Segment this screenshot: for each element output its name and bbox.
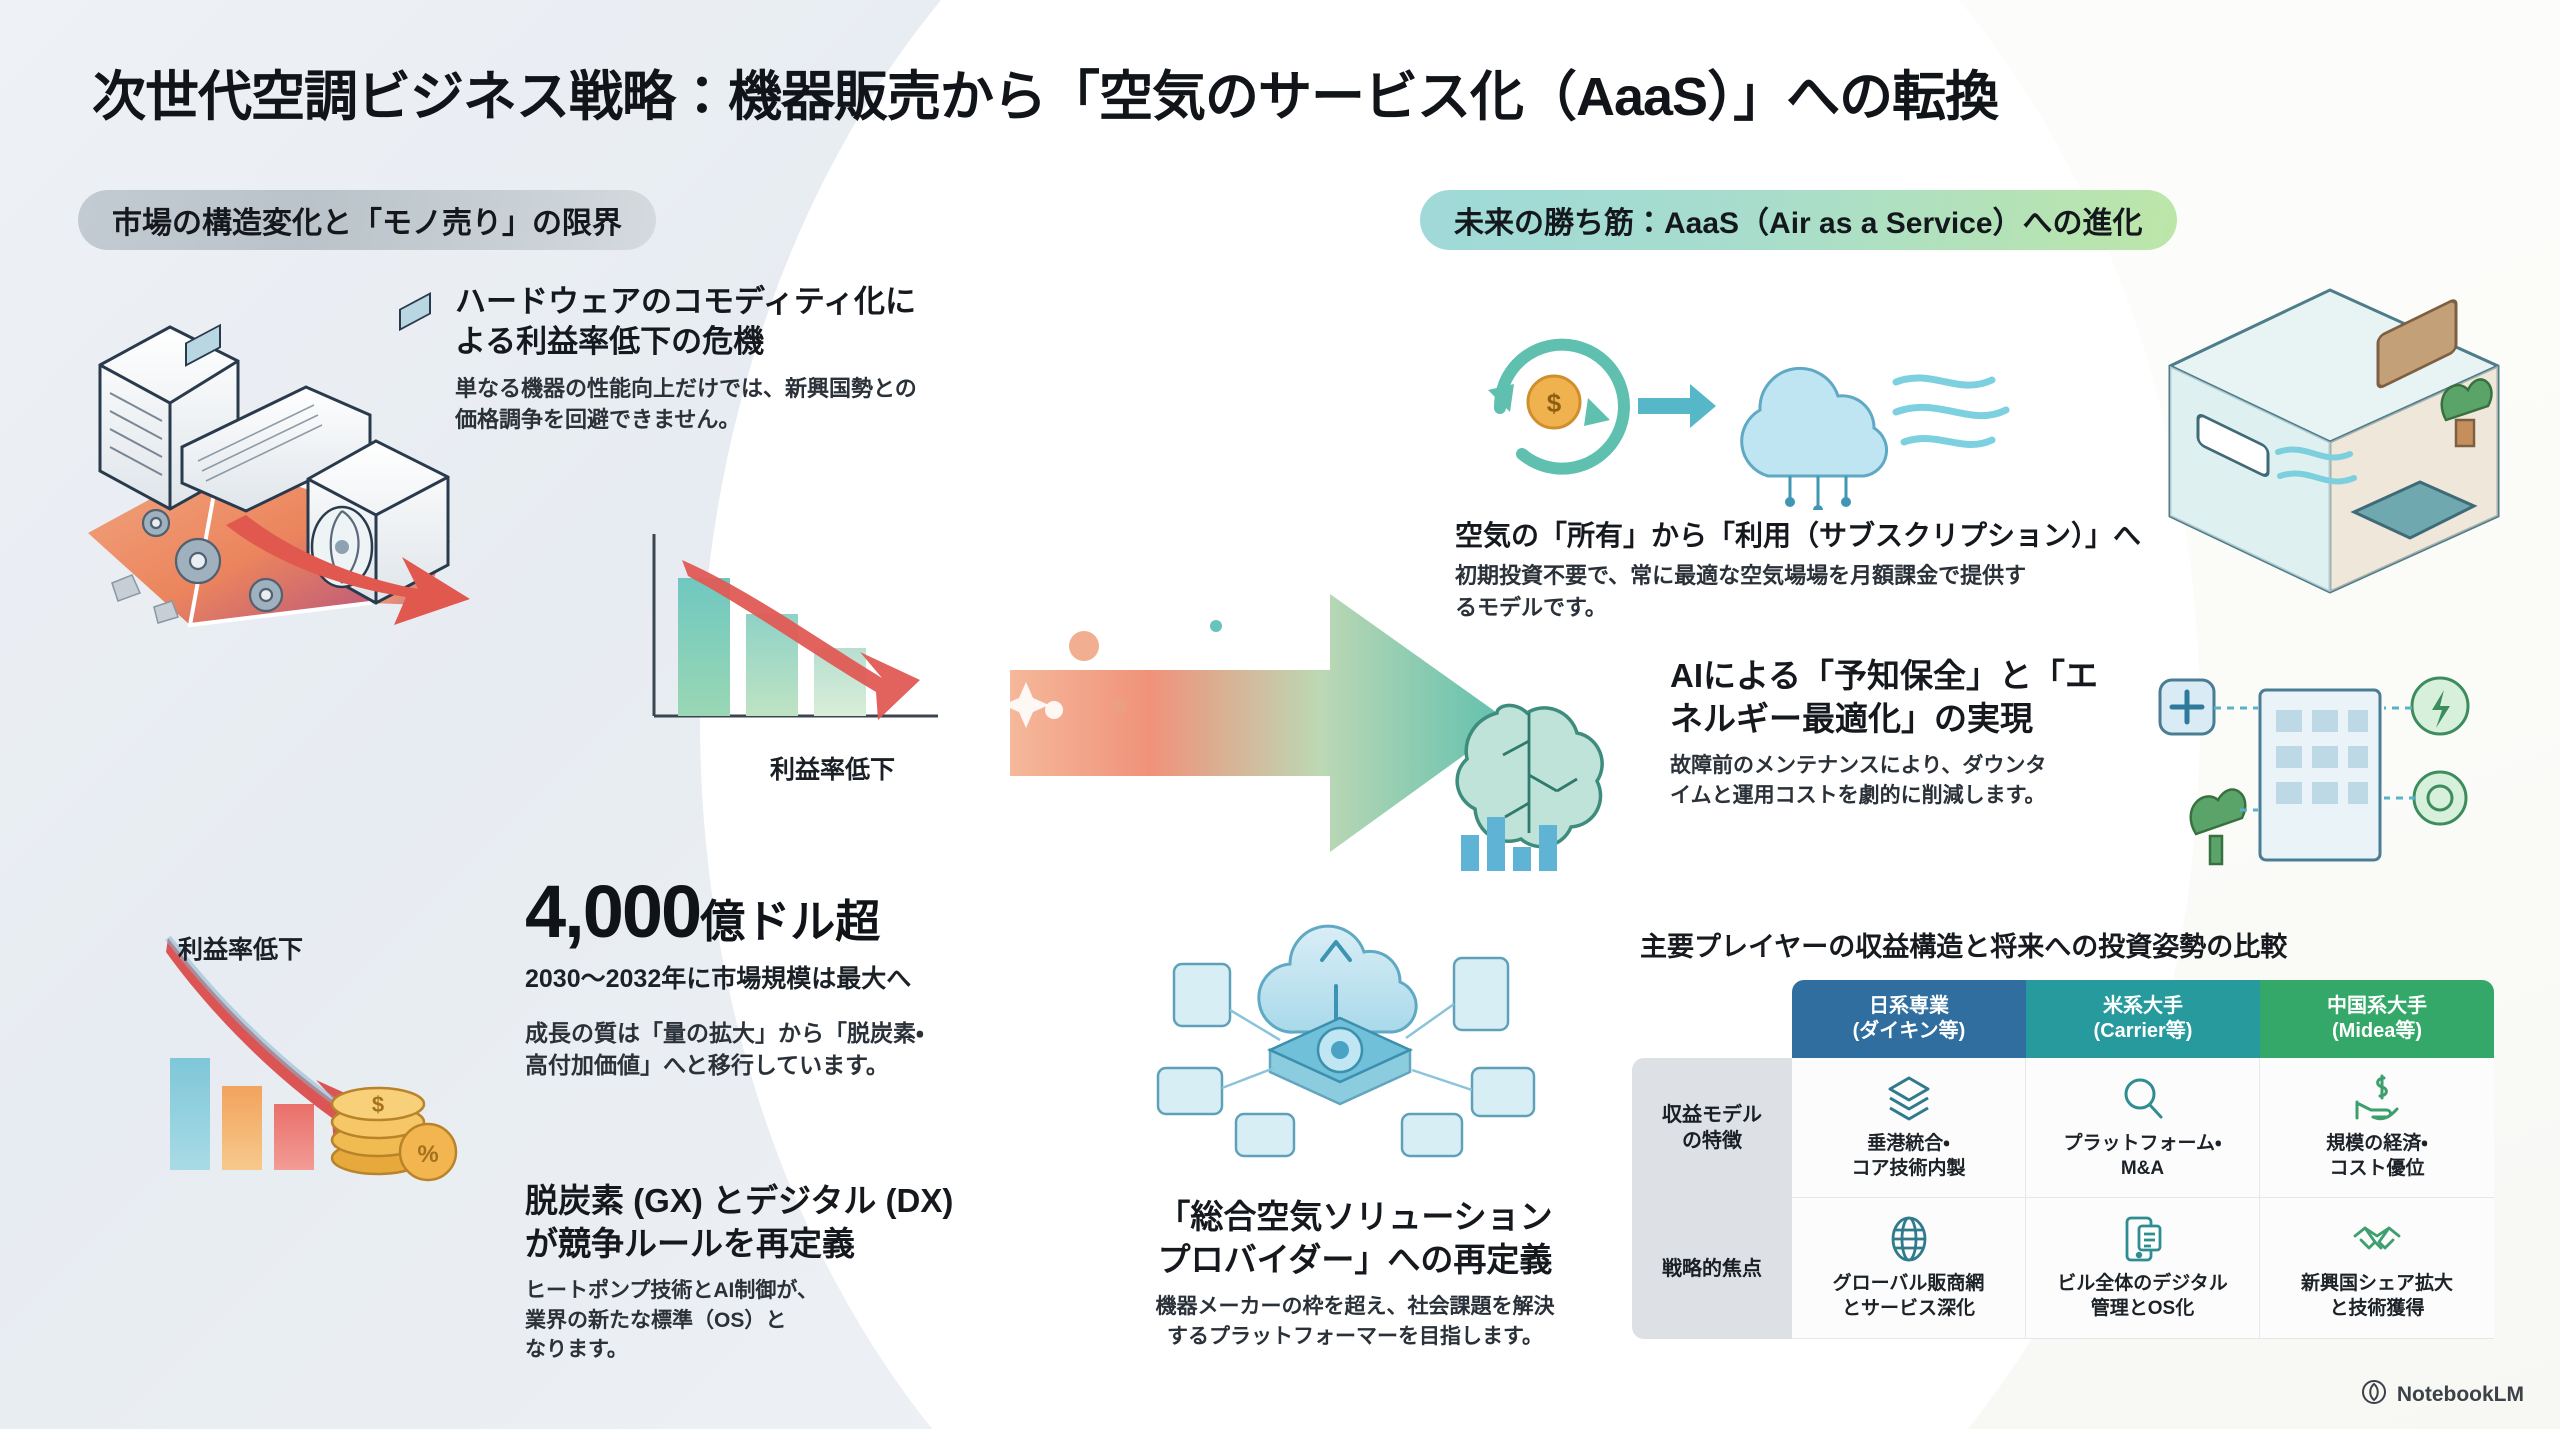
mobile-document-icon bbox=[2032, 1210, 2253, 1268]
svg-text:%: % bbox=[417, 1141, 438, 1168]
market-size-number: 4,000 bbox=[525, 870, 700, 953]
comparison-table-title: 主要プレイヤーの収益構造と将来への投資姿勢の比較 bbox=[1640, 925, 2287, 964]
aaas-subscription-heading: 空気の「所有」から「利用（サブスクリプション）」へ bbox=[1455, 518, 2285, 554]
left-section-badge: 市場の構造変化と「モノ売り」の限界 bbox=[78, 190, 656, 250]
hand-money-icon bbox=[2266, 1070, 2488, 1128]
profit-decline-chart-upper bbox=[620, 520, 950, 760]
ai-optimization-body: 故障前のメンテナンスにより、ダウンタ イムと運用コストを劇的に削減します。 bbox=[1670, 751, 2230, 811]
market-size-number-row: 4,000億ドル超 bbox=[525, 875, 924, 949]
comparison-cell-revenue-japan: 垂港統合・ コア技術内製 bbox=[1792, 1058, 2026, 1198]
comparison-column-header-us: 米系大手 (Carrier等) bbox=[2026, 980, 2260, 1058]
comparison-row-header-revenue-model: 収益モデル の特徴 bbox=[1632, 1058, 1792, 1198]
left-section-badge-label: 市場の構造変化と「モノ売り」の限界 bbox=[112, 198, 622, 242]
integrated-solution-heading: 「総合空気ソリューション プロバイダー」への再定義 bbox=[1095, 1196, 1615, 1282]
comparison-cell-text: 規模の経済・ コスト優位 bbox=[2266, 1132, 2488, 1181]
profit-decline-chart-lower: $ % bbox=[110, 890, 550, 1210]
gx-dx-heading: 脱炭素 (GX) とデジタル (DX) が競争ルールを再定義 bbox=[525, 1180, 1065, 1266]
comparison-row-header-strategic-focus: 戦略的焦点 bbox=[1632, 1198, 1792, 1338]
hardware-commodity-heading: ハードウェアのコモディティ化に よる利益率低下の危機 bbox=[455, 282, 1065, 363]
globe-icon bbox=[1798, 1210, 2019, 1268]
market-size-stat: 4,000億ドル超 2030〜2032年に市場規模は最大へ 成長の質は「量の拡大… bbox=[525, 875, 924, 1081]
hardware-commodity-block: ハードウェアのコモディティ化に よる利益率低下の危機 単なる機器の性能向上だけで… bbox=[455, 282, 1065, 435]
hardware-commodity-body: 単なる機器の性能向上だけでは、新興国勢との 価格調争を回避できません。 bbox=[455, 373, 1065, 435]
svg-text:$: $ bbox=[1547, 388, 1562, 418]
comparison-cell-focus-japan: グローバル販商網 とサービス深化 bbox=[1792, 1198, 2026, 1338]
footer-brand: NotebookLM bbox=[2361, 1379, 2524, 1411]
comparison-cell-revenue-us: プラットフォーム・ M&A bbox=[2026, 1058, 2260, 1198]
market-size-subtitle: 2030〜2032年に市場規模は最大へ bbox=[525, 959, 924, 995]
transition-arrow bbox=[1000, 560, 1520, 890]
handshake-icon bbox=[2266, 1210, 2488, 1268]
page-title: 次世代空調ビジネス戦略：機器販売から「空気のサービス化（AaaS）」への転換 bbox=[92, 52, 1998, 131]
ai-optimization-block: AIによる「予知保全」と「エ ネルギー最適化」の実現 故障前のメンテナンスにより… bbox=[1670, 655, 2230, 810]
comparison-cell-text: 新興国シェア拡大 と技術獲得 bbox=[2266, 1272, 2488, 1321]
magnifier-icon bbox=[2032, 1070, 2253, 1128]
comparison-column-header-china: 中国系大手 (Midea等) bbox=[2260, 980, 2494, 1058]
market-size-unit: 億ドル超 bbox=[700, 896, 880, 947]
ai-optimization-heading: AIによる「予知保全」と「エ ネルギー最適化」の実現 bbox=[1670, 655, 2230, 741]
notebooklm-icon bbox=[2361, 1379, 2387, 1411]
integrated-solution-illustration bbox=[1140, 900, 1560, 1190]
footer-brand-label: NotebookLM bbox=[2397, 1383, 2524, 1407]
comparison-cell-text: グローバル販商網 とサービス深化 bbox=[1798, 1272, 2019, 1321]
comparison-cell-focus-us: ビル全体のデジタル 管理とOS化 bbox=[2026, 1198, 2260, 1338]
right-section-badge: 未来の勝ち筋：AaaS（Air as a Service）への進化 bbox=[1420, 190, 2177, 250]
comparison-table-corner bbox=[1632, 980, 1792, 1058]
profit-decline-label-upper: 利益率低下 bbox=[770, 750, 895, 786]
gx-dx-block: 脱炭素 (GX) とデジタル (DX) が競争ルールを再定義 ヒートポンプ技術と… bbox=[525, 1180, 1065, 1365]
ai-brain-illustration bbox=[1445, 655, 1665, 885]
aaas-subscription-block: 空気の「所有」から「利用（サブスクリプション）」へ 初期投資不要で、常に最適な空… bbox=[1455, 518, 2285, 623]
comparison-column-header-japan: 日系専業 (ダイキン等) bbox=[1792, 980, 2026, 1058]
table-row: 収益モデル の特徴 垂港統合・ コア技術内製 bbox=[1632, 1058, 2494, 1198]
integrated-solution-block: 「総合空気ソリューション プロバイダー」への再定義 機器メーカーの枠を超え、社会… bbox=[1095, 1196, 1615, 1351]
subscription-cycle-illustration: $ bbox=[1460, 290, 2020, 510]
integrated-solution-body: 機器メーカーの枠を超え、社会課題を解決 するプラットフォーマーを目指します。 bbox=[1095, 1292, 1615, 1352]
comparison-table-header-row: 日系専業 (ダイキン等) 米系大手 (Carrier等) 中国系大手 (Mide… bbox=[1632, 980, 2494, 1058]
layers-icon bbox=[1798, 1070, 2019, 1128]
profit-decline-label-lower: 利益率低下 bbox=[178, 930, 303, 966]
svg-text:$: $ bbox=[372, 1092, 384, 1117]
comparison-cell-text: プラットフォーム・ M&A bbox=[2032, 1132, 2253, 1181]
comparison-table: 日系専業 (ダイキン等) 米系大手 (Carrier等) 中国系大手 (Mide… bbox=[1632, 980, 2494, 1339]
market-size-body: 成長の質は「量の拡大」から「脱炭素・ 高付加価値」へと移行しています。 bbox=[525, 1017, 924, 1081]
right-section-badge-label: 未来の勝ち筋：AaaS（Air as a Service）への進化 bbox=[1454, 198, 2143, 242]
comparison-cell-text: ビル全体のデジタル 管理とOS化 bbox=[2032, 1272, 2253, 1321]
comparison-cell-revenue-china: 規模の経済・ コスト優位 bbox=[2260, 1058, 2494, 1198]
gx-dx-body: ヒートポンプ技術とAI制御が、 業界の新たな標準（OS）と なります。 bbox=[525, 1276, 1065, 1365]
aaas-subscription-body: 初期投資不要で、常に最適な空気場場を月額課金で提供す るモデルです。 bbox=[1455, 560, 2285, 622]
comparison-cell-focus-china: 新興国シェア拡大 と技術獲得 bbox=[2260, 1198, 2494, 1338]
comparison-cell-text: 垂港統合・ コア技術内製 bbox=[1798, 1132, 2019, 1181]
table-row: 戦略的焦点 グローバル販商網 とサービス深化 bbox=[1632, 1198, 2494, 1338]
